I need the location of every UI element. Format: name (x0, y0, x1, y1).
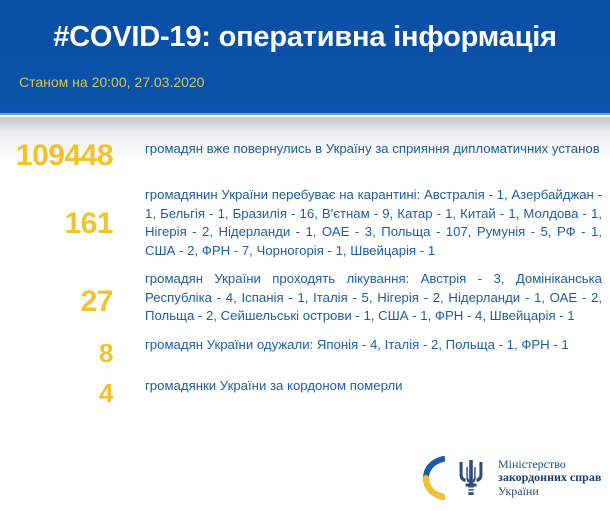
stat-description: громадян вже повернулись в Україну за сп… (113, 140, 610, 159)
ministry-logo-line-2: закордонних справ (498, 471, 603, 485)
stat-description: громадян України проходять лікування: Ав… (113, 270, 610, 326)
stat-number: 8 (0, 336, 113, 369)
stat-description: громадянин України перебуває на карантин… (113, 186, 610, 260)
stat-description: громадян України одужали: Японія - 4, Іт… (113, 336, 610, 355)
stat-row: 109448 громадян вже повернулись в Україн… (0, 140, 610, 172)
stat-row: 27 громадян України проходять лікування:… (0, 270, 610, 326)
ministry-logo: Міністерство закордонних справ України (423, 452, 603, 504)
stat-row: 161 громадянин України перебуває на кара… (0, 186, 610, 260)
ministry-logo-text: Міністерство закордонних справ України (498, 458, 603, 499)
stat-number: 161 (0, 186, 113, 240)
statistics-list: 109448 громадян вже повернулись в Україн… (0, 140, 610, 417)
ministry-logo-line-3: України (498, 485, 603, 499)
header-timestamp: Станом на 20:00, 27.03.2020 (19, 73, 204, 91)
page-title: #COVID-19: оперативна інформація (0, 20, 610, 54)
stat-number: 109448 (0, 140, 113, 172)
ministry-logo-line-1: Міністерство (498, 458, 603, 472)
ukraine-trident-icon (454, 458, 488, 498)
stat-row: 4 громадянки України за кордоном померли (0, 377, 610, 409)
stat-row: 8 громадян України одужали: Японія - 4, … (0, 336, 610, 369)
ukraine-flag-arc-icon (423, 456, 445, 500)
stat-description: громадянки України за кордоном померли (113, 377, 610, 396)
stat-number: 4 (0, 377, 113, 409)
header-band: #COVID-19: оперативна інформація Станом … (0, 0, 610, 115)
stat-number: 27 (0, 270, 113, 318)
